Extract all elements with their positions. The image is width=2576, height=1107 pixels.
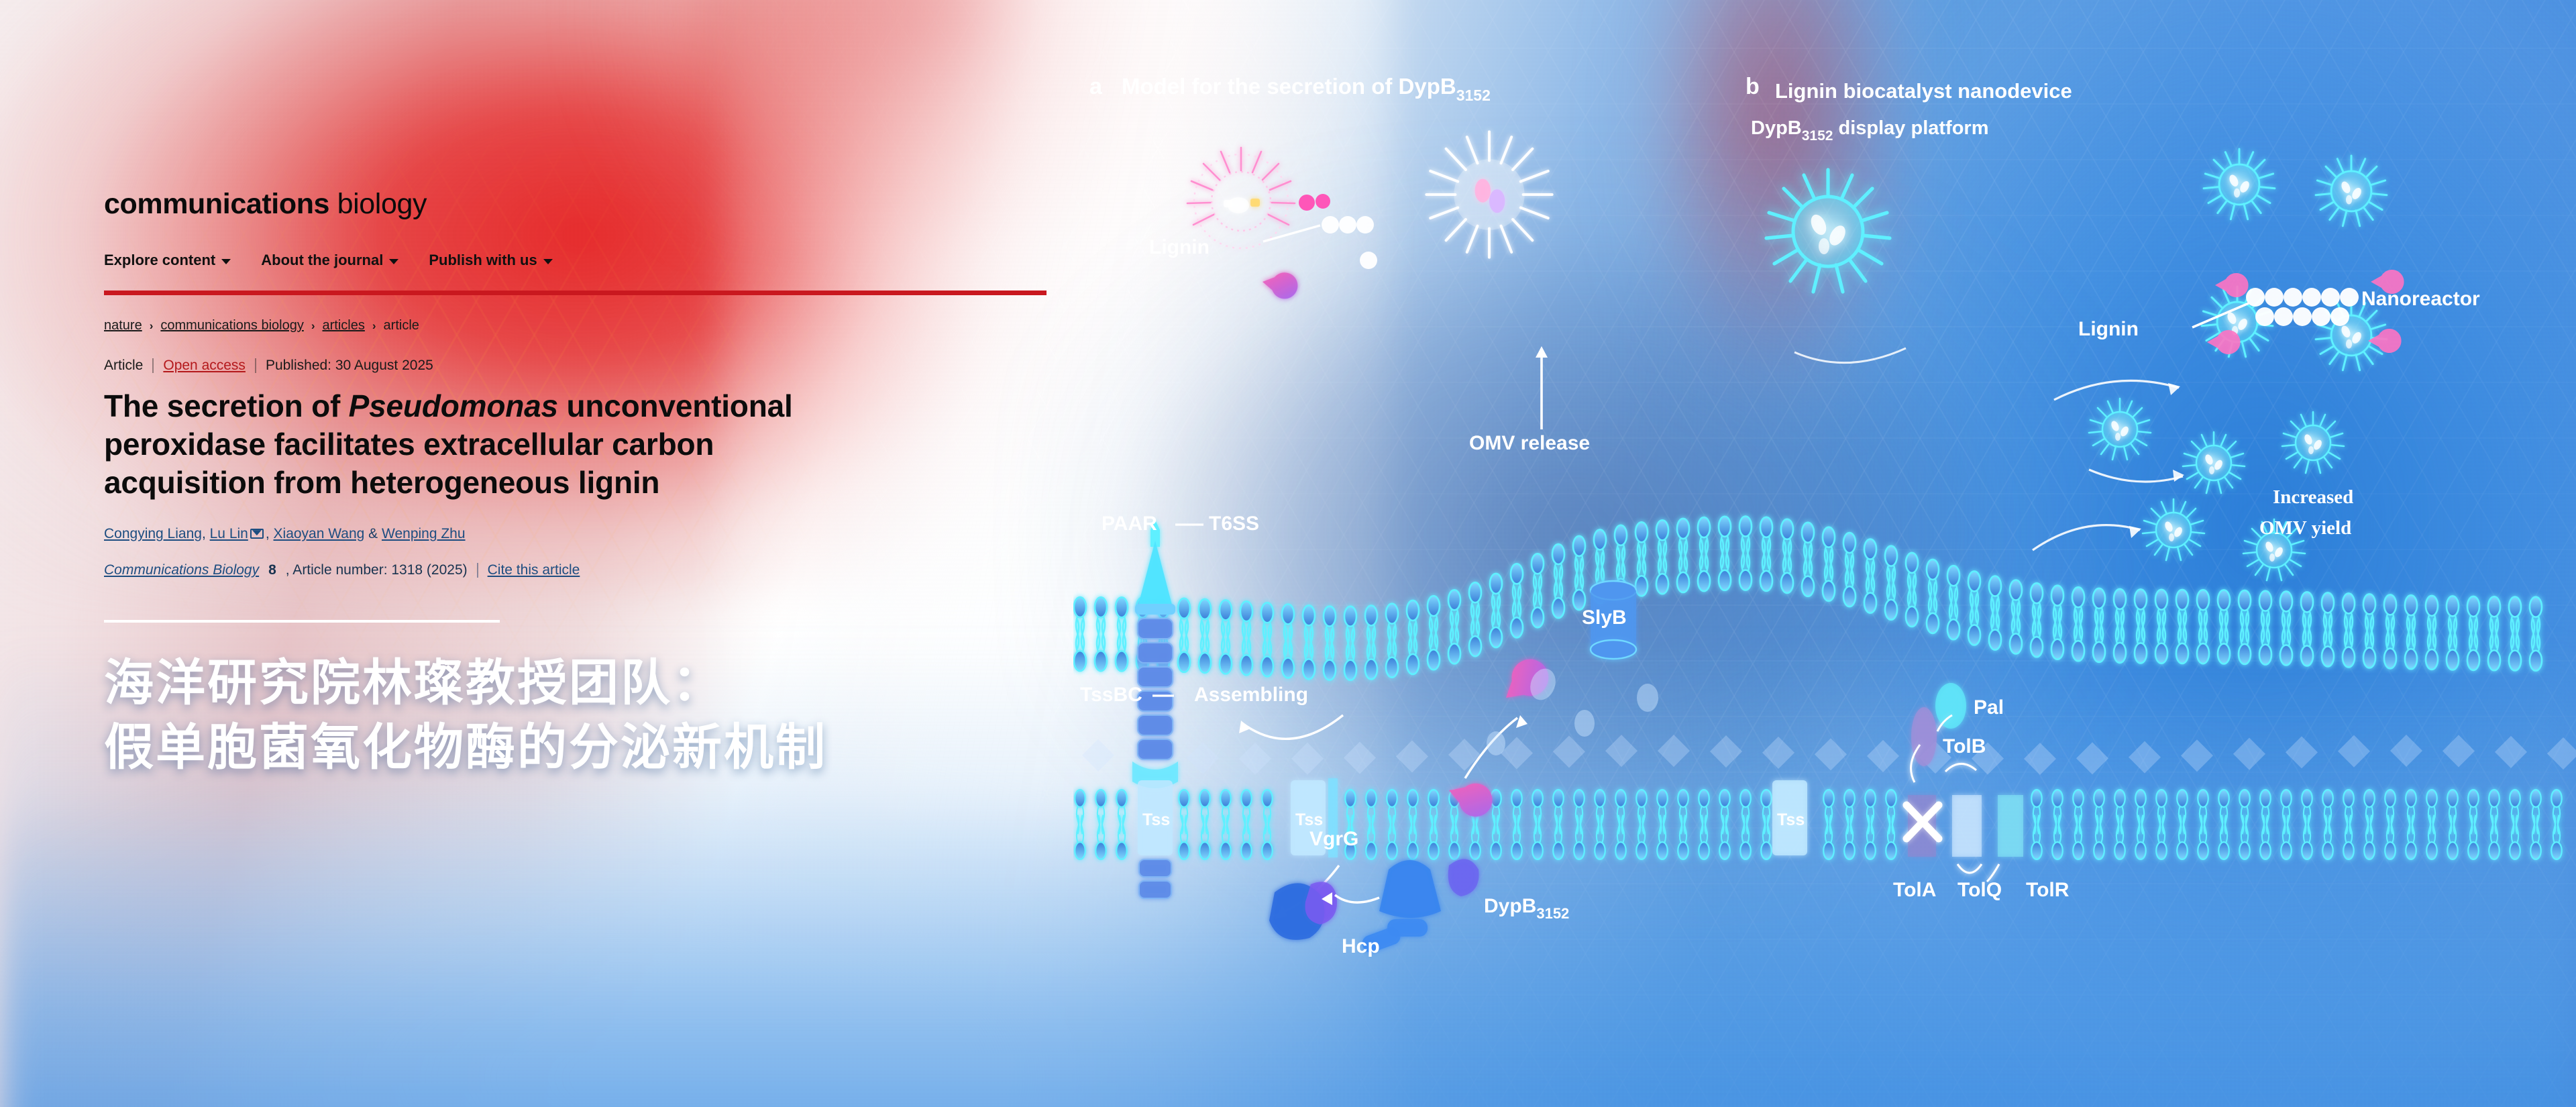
assembling-arrow <box>1242 715 1343 739</box>
omv-large-white <box>1426 131 1552 257</box>
lipid-pair <box>1240 601 1252 675</box>
lipid-pair <box>2114 589 2126 663</box>
panel-b-subtitle: DypB3152 display platform <box>1751 117 1989 144</box>
lipid-pair <box>2426 596 2438 670</box>
peptidoglycan-unit <box>2390 735 2422 767</box>
nav-label: Explore content <box>104 252 215 269</box>
lipid-pair <box>1761 790 1771 859</box>
lipid-pair <box>1843 533 1856 607</box>
lipid-pair <box>2094 790 2104 859</box>
breadcrumb-item-article: article <box>384 318 419 333</box>
lipid-pair <box>2363 594 2375 668</box>
peptidoglycan-unit <box>1239 743 1271 775</box>
nanoreactor-vesicle <box>2316 156 2387 226</box>
label-hcp: Hcp <box>1342 935 1380 957</box>
peptidoglycan-unit <box>2181 739 2213 772</box>
meta-divider <box>152 358 154 373</box>
lipid-pair <box>2488 596 2500 670</box>
lipid-pair <box>1116 597 1128 671</box>
dypb-main-text: DypB <box>1484 895 1536 917</box>
lipid-pair <box>1365 605 1377 679</box>
peptidoglycan-unit <box>1605 735 1638 767</box>
breadcrumb-separator-icon: › <box>372 319 376 333</box>
panel-a-title: Model for the secretion of DypB3152 <box>1122 74 1491 104</box>
lipid-pair <box>1635 522 1648 596</box>
lipid-pair <box>2114 790 2125 859</box>
peptidoglycan-unit <box>2443 735 2475 767</box>
lipid-pair <box>1491 790 1501 859</box>
lipid-pair <box>1947 566 1960 639</box>
lipid-pair <box>1885 546 1897 620</box>
nav-item-about-the-journal[interactable]: About the journal <box>261 252 398 269</box>
lipid-pair <box>1532 790 1542 859</box>
omv-cluster-a <box>1187 131 1552 257</box>
peptidoglycan-unit <box>2129 741 2161 774</box>
lipid-pair <box>2155 590 2167 664</box>
omv-release-annotation <box>1536 346 1548 429</box>
page-title: The secretion of Pseudomonas unconventio… <box>104 387 869 502</box>
label-tolb: TolB <box>1943 735 1986 757</box>
lipid-pair <box>1075 790 1085 859</box>
panel-a-header: a Model for the secretion of DypB3152 <box>1089 74 1491 104</box>
peptidoglycan-unit <box>1553 735 1585 768</box>
nanoreactor-vesicle <box>2282 412 2344 473</box>
lipid-pair <box>2197 590 2209 664</box>
lipid-pair <box>1095 597 1107 671</box>
published-date: Published: 30 August 2025 <box>266 358 433 374</box>
nav-item-explore-content[interactable]: Explore content <box>104 252 231 269</box>
lipid-pair <box>1511 564 1523 637</box>
lipid-pair <box>1552 544 1564 618</box>
citation-divider <box>477 563 478 578</box>
lipid-pair <box>1989 576 2001 650</box>
lipid-pair <box>1386 604 1398 678</box>
author-wenping-zhu[interactable]: Wenping Zhu <box>382 526 466 541</box>
lipid-pair <box>2384 594 2396 668</box>
peptidoglycan-unit <box>1344 742 1376 774</box>
lipid-pair <box>1865 790 1875 859</box>
lipid-pair <box>1178 598 1190 672</box>
envelope-icon[interactable] <box>250 529 264 539</box>
lipid-pair <box>2551 790 2561 859</box>
peptidoglycan-unit <box>1762 737 1794 769</box>
breadcrumb-separator-icon: › <box>311 319 315 333</box>
lipid-pair <box>1469 582 1481 656</box>
breadcrumb-separator-icon: › <box>150 319 154 333</box>
lipid-pair <box>2530 597 2542 671</box>
peptidoglycan-unit <box>2547 737 2576 770</box>
label-slyb: SlyB <box>1582 607 1627 629</box>
lipid-pair <box>1802 523 1814 596</box>
lipid-pair <box>2177 790 2187 859</box>
lipid-pair <box>1511 790 1521 859</box>
chinese-headline: 海洋研究院林璨教授团队： 假单胞菌氧化物酶的分泌新机制 <box>104 651 1057 780</box>
lipid-pair <box>2322 790 2332 859</box>
lipid-pair <box>1116 790 1126 859</box>
lipid-pair <box>1407 790 1417 859</box>
author-separator: , <box>202 526 210 541</box>
dypb-main-subscript: 3152 <box>1536 905 1569 922</box>
lipid-pair <box>2489 790 2499 859</box>
citation-volume: 8 <box>268 562 276 578</box>
breadcrumb-item-articles[interactable]: articles <box>323 318 365 333</box>
lipid-pair <box>1179 790 1189 859</box>
lipid-pair <box>2135 790 2145 859</box>
lipid-pair <box>2447 790 2457 859</box>
lipid-pair <box>1199 790 1210 859</box>
lipid-pair <box>1428 790 1438 859</box>
panel-b-title: Lignin biocatalyst nanodevice <box>1775 79 2072 103</box>
title-species-italic: Pseudomonas <box>349 388 558 423</box>
lipid-pair <box>1387 790 1397 859</box>
nanoreactor-cluster <box>2089 149 2387 580</box>
lipid-pair <box>2052 790 2062 859</box>
lipid-pair <box>2468 790 2478 859</box>
platform-budding-arc <box>1794 348 1906 363</box>
nanoreactor-vesicle <box>2089 399 2151 460</box>
lipid-pair <box>2364 790 2374 859</box>
panel-a-letter: a <box>1089 74 1103 99</box>
nanoreactor-vesicle <box>2183 432 2245 493</box>
lipid-pair <box>1886 790 1896 859</box>
scientific-figure: a Model for the secretion of DypB3152 b … <box>1073 0 2576 1107</box>
label-tss-1: Tss <box>1142 810 1170 829</box>
header-accent-rule <box>104 291 1046 295</box>
citation-journal-name[interactable]: Communications Biology <box>104 562 259 578</box>
lipid-pair <box>1678 790 1688 859</box>
lipid-pair <box>1428 596 1440 670</box>
lipid-pair <box>1636 790 1646 859</box>
panel-b-header: b Lignin biocatalyst nanodevice DypB3152… <box>1746 74 2072 144</box>
lipid-pair <box>1095 790 1106 859</box>
lipid-pair <box>2530 790 2540 859</box>
journal-masthead[interactable]: communications biology <box>104 188 1057 221</box>
label-lignin-right: Lignin <box>2078 318 2139 340</box>
lipid-pair <box>2510 790 2520 859</box>
lipid-pair <box>2239 790 2249 859</box>
omv-micelle-pink <box>1187 148 1295 248</box>
lipid-pair <box>1407 600 1419 674</box>
lipid-pair <box>1699 790 1709 859</box>
meta-divider <box>255 358 256 373</box>
peptidoglycan-unit <box>1448 739 1481 771</box>
citation-line: Communications Biology 8 , Article numbe… <box>104 562 1057 578</box>
peptidoglycan-unit <box>1867 740 1899 772</box>
chinese-headline-line-2: 假单胞菌氧化物酶的分泌新机制 <box>104 715 1057 780</box>
peptidoglycan-unit <box>1187 742 1219 774</box>
lipid-pair <box>2031 583 2043 657</box>
label-paar: PAAR <box>1102 513 1157 535</box>
lipid-pair <box>2343 790 2353 859</box>
breadcrumb-item-communications-biology[interactable]: communications biology <box>160 318 303 333</box>
peptidoglycan-unit <box>2024 743 2056 775</box>
lipid-pair <box>1823 790 1833 859</box>
peptidoglycan-unit <box>1501 737 1533 769</box>
lipid-pair <box>1324 607 1336 680</box>
nav-item-publish-with-us[interactable]: Publish with us <box>429 252 552 269</box>
lipid-pair <box>1677 519 1689 592</box>
lipid-pair <box>1906 553 1918 627</box>
label-assembling: Assembling <box>1194 684 1308 706</box>
lipid-pair <box>1303 605 1315 679</box>
author-xiaoyan-wang[interactable]: Xiaoyan Wang <box>274 526 365 541</box>
label-t6ss: T6SS <box>1209 513 1259 535</box>
lipid-pair <box>1864 539 1876 613</box>
figure-svg: a Model for the secretion of DypB3152 b … <box>1073 0 2576 1107</box>
label-increased-line2: OMV yield <box>2259 517 2351 539</box>
panel-b-subtitle-tail: display platform <box>1833 117 1988 139</box>
lipid-pair <box>2426 790 2436 859</box>
peptidoglycan-unit <box>1710 735 1742 768</box>
lipid-pair <box>1656 520 1668 594</box>
citation-article-number: , Article number: 1318 (2025) <box>286 562 468 578</box>
chevron-down-icon <box>389 259 398 264</box>
lipid-pair <box>2281 790 2291 859</box>
peptidoglycan-unit <box>2338 735 2370 768</box>
lipid-pair <box>1595 790 1605 859</box>
label-tolr: TolR <box>2026 879 2070 901</box>
peptidoglycan-unit <box>1658 735 1690 767</box>
lipid-pair <box>2385 790 2395 859</box>
lipid-pair <box>2198 790 2208 859</box>
label-tolq: TolQ <box>1957 879 2002 901</box>
label-tola: TolA <box>1893 879 1936 901</box>
panel-b-subtitle-text: DypB <box>1751 117 1802 139</box>
lipid-pair <box>1220 600 1232 674</box>
label-vgrg: VgrG <box>1309 828 1358 850</box>
lipid-pair <box>1261 602 1273 676</box>
lipid-pair <box>2073 790 2083 859</box>
nav-label: About the journal <box>261 252 383 269</box>
lipid-pair <box>2405 595 2417 669</box>
label-pal: Pal <box>1974 696 2004 719</box>
author-list: Congying Liang, Lu Lin, Xiaoyan Wang & W… <box>104 526 1057 542</box>
lipid-pair <box>1553 790 1563 859</box>
tol-pal-system <box>1907 683 2023 882</box>
panel-b-subtitle-subscript: 3152 <box>1802 128 1833 144</box>
peptidoglycan-layer <box>1082 735 2576 775</box>
omv-display-platform <box>1766 170 1890 292</box>
open-access-badge[interactable]: Open access <box>163 358 246 374</box>
lipid-pair <box>1448 590 1460 664</box>
lipid-pair <box>1844 790 1854 859</box>
masthead-light-word: biology <box>337 188 427 220</box>
lipid-pair <box>2259 591 2271 665</box>
panel-a-title-subscript: 3152 <box>1456 87 1491 104</box>
lipid-pair <box>1241 790 1251 859</box>
lipid-pair <box>1532 553 1544 627</box>
lipid-pair <box>1220 790 1230 859</box>
peptidoglycan-unit <box>2495 736 2527 768</box>
cite-this-article-link[interactable]: Cite this article <box>488 562 580 578</box>
peptidoglycan-unit <box>1815 738 1847 770</box>
lipid-pair <box>1344 607 1356 680</box>
author-lu-lin[interactable]: Lu Lin <box>210 526 248 541</box>
label-dypb-main: DypB3152 <box>1484 895 1569 922</box>
lipid-pair <box>1760 517 1772 591</box>
lipid-pair <box>1823 527 1835 601</box>
lipid-pair <box>2031 790 2041 859</box>
lipid-pair <box>2218 590 2230 664</box>
breadcrumb: nature › communications biology › articl… <box>104 318 1057 333</box>
peptidoglycan-unit <box>2233 738 2265 770</box>
nav-label: Publish with us <box>429 252 537 269</box>
lipid-pair <box>2093 588 2105 662</box>
lipid-pair <box>2301 592 2313 666</box>
lipid-pair <box>2260 790 2270 859</box>
label-increased-line1: Increased <box>2273 486 2353 508</box>
lipid-pair <box>1927 560 1939 633</box>
author-separator: , <box>266 526 274 541</box>
nanoreactor-vesicle <box>2143 499 2204 560</box>
label-tss-2: Tss <box>1295 810 1323 829</box>
lipid-pair <box>1740 790 1750 859</box>
lipid-pair <box>2156 790 2166 859</box>
peptidoglycan-unit <box>2286 736 2318 768</box>
chevron-down-icon <box>543 259 553 264</box>
breadcrumb-item-nature[interactable]: nature <box>104 318 142 333</box>
lipid-pair <box>1574 790 1584 859</box>
label-nanoreactor: Nanoreactor <box>2361 288 2480 310</box>
lipid-pair <box>1199 599 1211 673</box>
dypb-translocation-arrowhead <box>1516 715 1527 728</box>
lipid-pair <box>2218 790 2229 859</box>
label-lignin-left: Lignin <box>1149 236 1210 258</box>
lipid-pair <box>2072 587 2084 661</box>
lipid-pair <box>1573 536 1585 610</box>
tss-channel-3: Tss <box>1772 780 1807 855</box>
chevron-down-icon <box>221 259 231 264</box>
lipid-pair <box>2509 596 2521 670</box>
label-tss-3: Tss <box>1777 810 1805 829</box>
main-navigation: Explore content About the journal Publis… <box>104 252 1057 269</box>
lipid-pair <box>2010 580 2022 654</box>
lipid-pair <box>1074 597 1086 671</box>
lignin-chain-a <box>1263 194 1377 269</box>
peptidoglycan-unit <box>1291 743 1324 775</box>
lipid-pair <box>1615 790 1625 859</box>
chinese-headline-line-1: 海洋研究院林璨教授团队： <box>104 651 1057 715</box>
lipid-pair <box>1781 519 1793 593</box>
lipid-pair <box>2406 790 2416 859</box>
lipid-pair <box>1968 571 1980 645</box>
lipid-pair <box>1262 790 1272 859</box>
outer-membrane-lipids <box>1074 517 2542 680</box>
lipid-pair <box>2176 590 2188 664</box>
lipid-pair <box>1739 517 1752 590</box>
nanoreactor-vesicle <box>2204 149 2275 219</box>
lipid-pair <box>2239 590 2251 664</box>
lipid-pair <box>1719 517 1731 590</box>
lipid-pair <box>2135 589 2147 663</box>
panel-a-title-text: Model for the secretion of DypB <box>1122 74 1456 99</box>
title-part-1: The secretion of <box>104 388 349 423</box>
panel-b-letter: b <box>1746 74 1760 99</box>
peptidoglycan-unit <box>1396 740 1428 772</box>
masthead-bold-word: communications <box>104 188 329 220</box>
author-separator: & <box>364 526 382 541</box>
lipid-pair <box>2051 586 2063 660</box>
section-divider <box>104 620 500 623</box>
label-omv-release: OMV release <box>1469 432 1590 454</box>
effector-arrow <box>1335 895 1379 902</box>
lipid-pair <box>1490 574 1502 647</box>
journal-article-panel: communications biology Explore content A… <box>104 188 1057 780</box>
peptidoglycan-unit <box>2076 742 2108 774</box>
lipid-pair <box>1282 604 1294 678</box>
lipid-pair <box>2467 596 2479 670</box>
lipid-pair <box>2280 591 2292 665</box>
lipid-pair <box>1657 790 1667 859</box>
lipid-pair <box>2343 593 2355 667</box>
lipid-pair <box>2302 790 2312 859</box>
lipid-pair <box>1366 790 1376 859</box>
lipid-pair <box>2447 596 2459 670</box>
article-type-label: Article <box>104 358 143 374</box>
t6ss-apparatus: Tss <box>1132 520 1178 898</box>
author-congying-liang[interactable]: Congying Liang <box>104 526 202 541</box>
lipid-pair <box>1719 790 1729 859</box>
label-tssbc: TssBC <box>1080 684 1142 706</box>
article-meta: Article Open access Published: 30 August… <box>104 358 1057 374</box>
lipid-pair <box>2322 592 2334 666</box>
lipid-pair <box>1698 517 1710 591</box>
peptidoglycan-unit <box>1082 739 1114 772</box>
dypb-enzymes-panel-a <box>1260 269 1556 821</box>
